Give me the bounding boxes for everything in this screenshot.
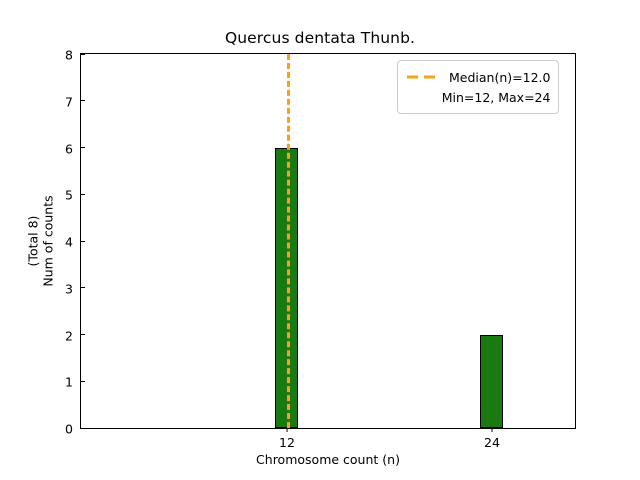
y-tick-6: 6 (65, 138, 81, 157)
x-tick-12: 12 (279, 428, 295, 450)
y-tick-8: 8 (65, 45, 81, 64)
y-tick-4: 4 (65, 232, 81, 251)
page-title: Quercus dentata Thunb. (0, 29, 640, 47)
x-tick-24: 24 (484, 428, 500, 450)
y-tick-2: 2 (65, 325, 81, 344)
legend-item-median: Median(n)=12.0 (406, 67, 550, 87)
y-tick-1: 1 (65, 372, 81, 391)
y-tick-0: 0 (65, 419, 81, 438)
x-axis-label: Chromosome count (n) (80, 452, 576, 467)
y-axis-label: (Total 8) Num of counts (24, 53, 58, 429)
x-tick-mark (492, 428, 493, 432)
y-tick-7: 7 (65, 91, 81, 110)
dashed-line-icon (406, 71, 440, 83)
y-axis-label-line-1: Num of counts (41, 195, 56, 286)
legend-item-minmax: Min=12, Max=24 (406, 87, 550, 107)
y-axis-label-line-2: (Total 8) (26, 195, 41, 286)
x-tick-mark (287, 428, 288, 432)
y-tick-5: 5 (65, 185, 81, 204)
figure-canvas: Quercus dentata Thunb. (Total 8) Num of … (0, 0, 640, 480)
median-line (287, 54, 290, 428)
legend: Median(n)=12.0 Min=12, Max=24 (397, 60, 559, 114)
plot-area: 0 1 2 3 4 5 6 7 8 12 24 (80, 53, 576, 429)
y-tick-3: 3 (65, 278, 81, 297)
